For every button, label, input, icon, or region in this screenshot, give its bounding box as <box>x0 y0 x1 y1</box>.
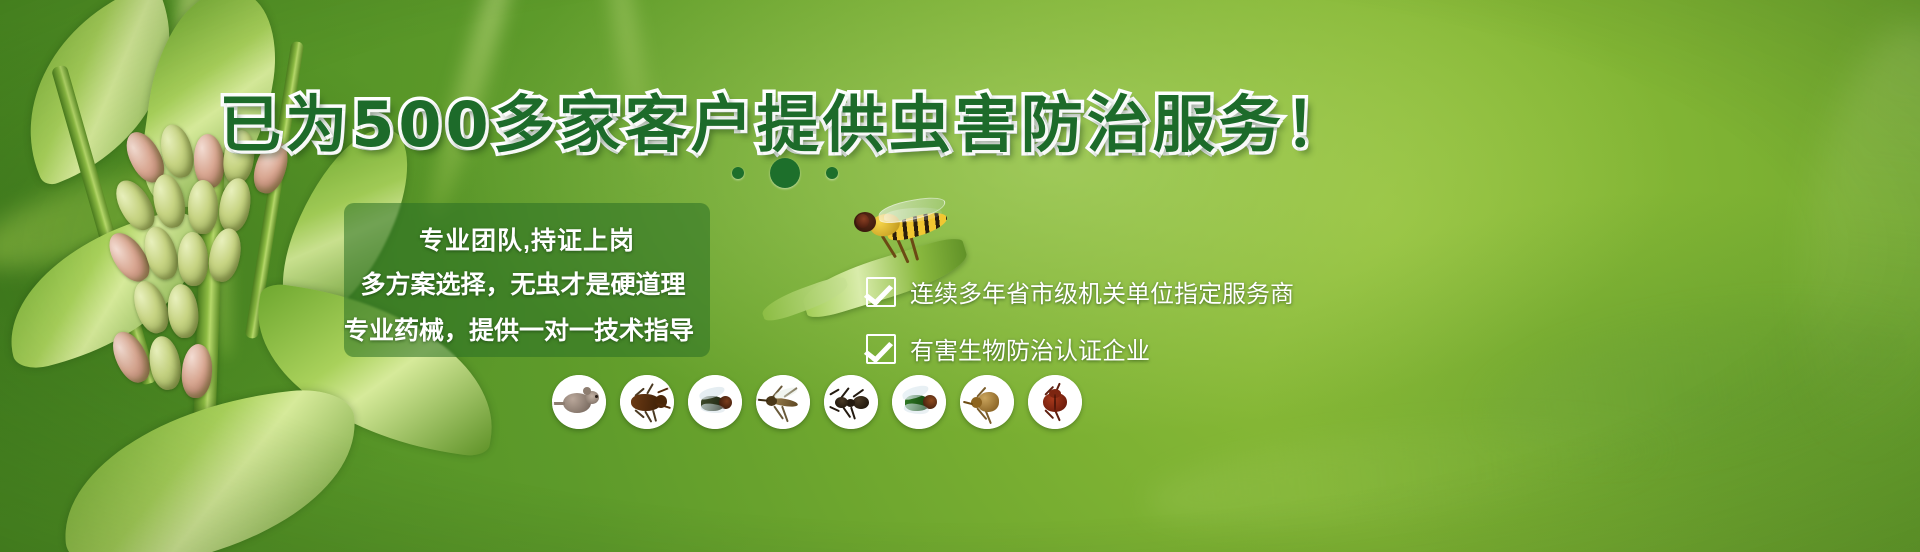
pest-control-banner: 已为500多家客户提供虫害防治服务！ 专业团队,持证上岗 多方案选择，无虫才是硬… <box>0 0 1920 552</box>
vignette-overlay <box>0 0 1920 552</box>
